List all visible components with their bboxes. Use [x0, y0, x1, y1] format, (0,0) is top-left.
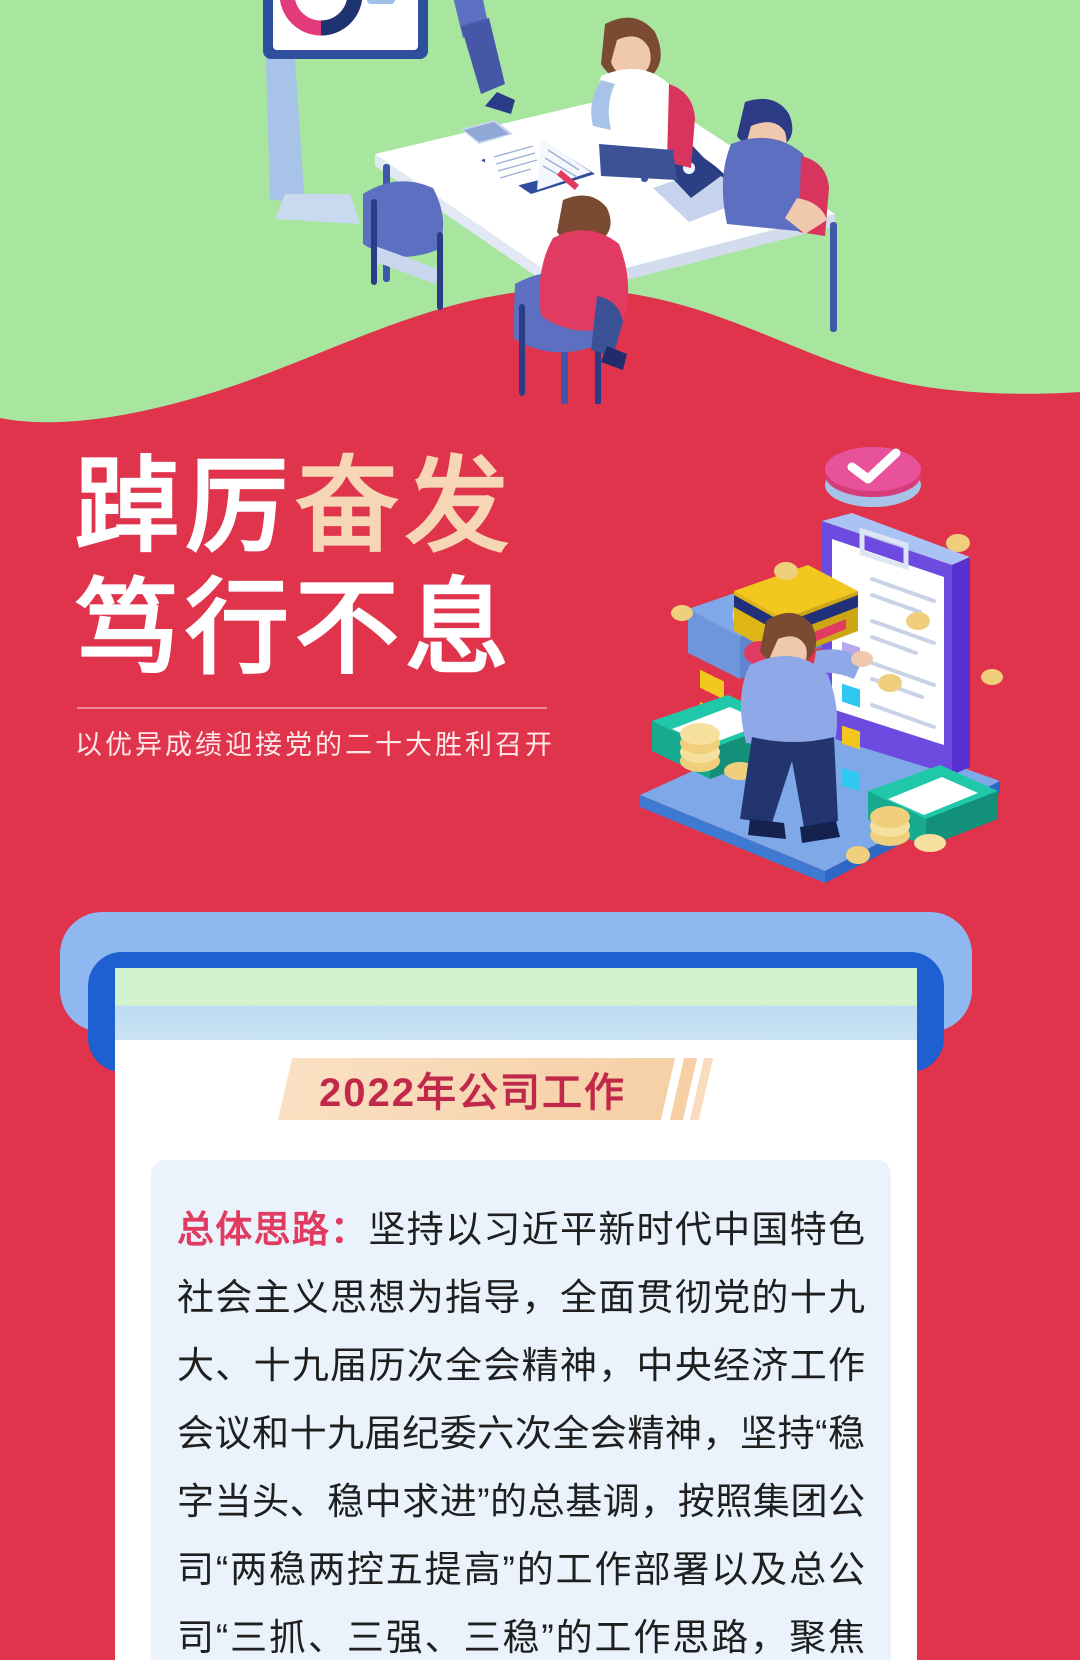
check-badge-icon — [825, 447, 921, 507]
hero-headline: 踔厉奋发 笃行不息 以优异成绩迎接党的二十大胜利召开 — [75, 455, 635, 762]
section-banner: 2022年公司工作 — [285, 1058, 706, 1120]
lead-label: 总体思路： — [177, 1209, 368, 1250]
person-standing-woman — [591, 18, 695, 180]
headline-line-1: 踔厉奋发 — [75, 455, 635, 559]
hero-subtitle: 以优异成绩迎接党的二十大胜利召开 — [75, 723, 635, 762]
section-banner-title: 2022年公司工作 — [319, 1060, 626, 1118]
office-chair-left — [363, 181, 443, 310]
section-banner-shape: 2022年公司工作 — [278, 1058, 675, 1120]
content-card: 2022年公司工作 总体思路：坚持以习近平新时代中国特色社会主义思想为指导，全面… — [115, 968, 917, 1660]
headline-accent-part: 奋发 — [295, 449, 515, 565]
overall-approach-panel: 总体思路：坚持以习近平新时代中国特色社会主义思想为指导，全面贯彻党的十九大、十九… — [151, 1160, 891, 1660]
body-text: 坚持以习近平新时代中国特色社会主义思想为指导，全面贯彻党的十九大、十九届历次全会… — [177, 1209, 865, 1660]
headline-line-2: 笃行不息 — [75, 577, 635, 681]
mobile-checklist-illustration — [600, 415, 1010, 885]
overall-approach-paragraph: 总体思路：坚持以习近平新时代中国特色社会主义思想为指导，全面贯彻党的十九大、十九… — [177, 1196, 865, 1660]
headline-divider — [77, 707, 547, 709]
card-top-gradient-strip — [115, 968, 917, 1040]
poster-root: 踔厉奋发 笃行不息 以优异成绩迎接党的二十大胜利召开 — [0, 0, 1080, 1660]
meeting-room-illustration — [245, 0, 945, 404]
person-seated-right — [723, 99, 829, 236]
person-standing — [445, 0, 515, 114]
headline-white-part: 踔厉 — [75, 449, 295, 565]
